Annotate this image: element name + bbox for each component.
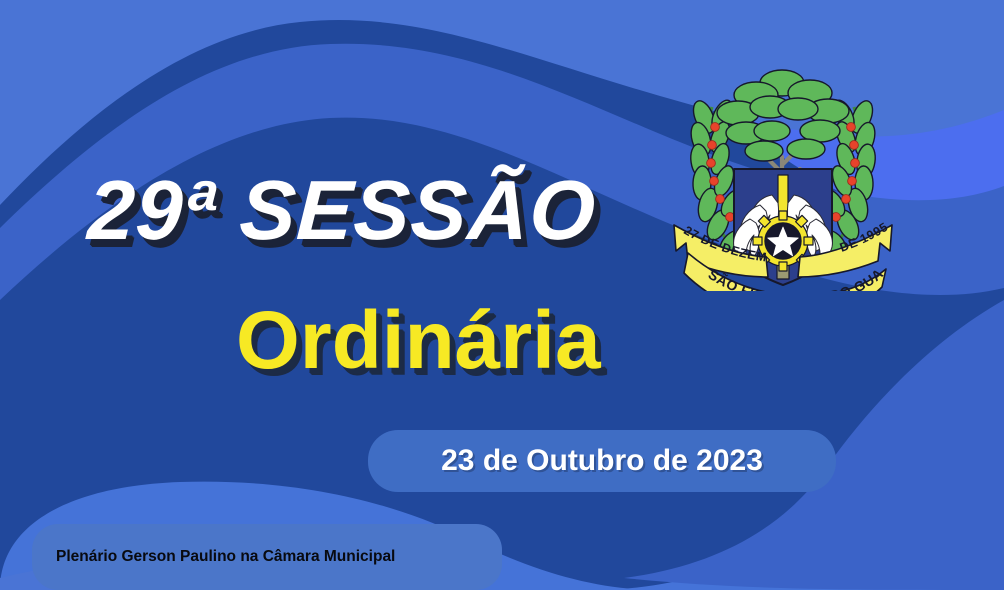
session-venue-pill: Plenário Gerson Paulino na Câmara Munici… — [32, 524, 502, 590]
coat-of-arms-emblem: 27 DE DEZEMBRO DE 1995 SÃO FRANCISCO DO … — [660, 45, 906, 291]
session-banner: 27 DE DEZEMBRO DE 1995 SÃO FRANCISCO DO … — [0, 0, 1004, 590]
session-date-pill: 23 de Outubro de 2023 — [368, 430, 836, 492]
session-date-text: 23 de Outubro de 2023 — [441, 444, 763, 478]
session-venue-text: Plenário Gerson Paulino na Câmara Munici… — [56, 548, 395, 566]
